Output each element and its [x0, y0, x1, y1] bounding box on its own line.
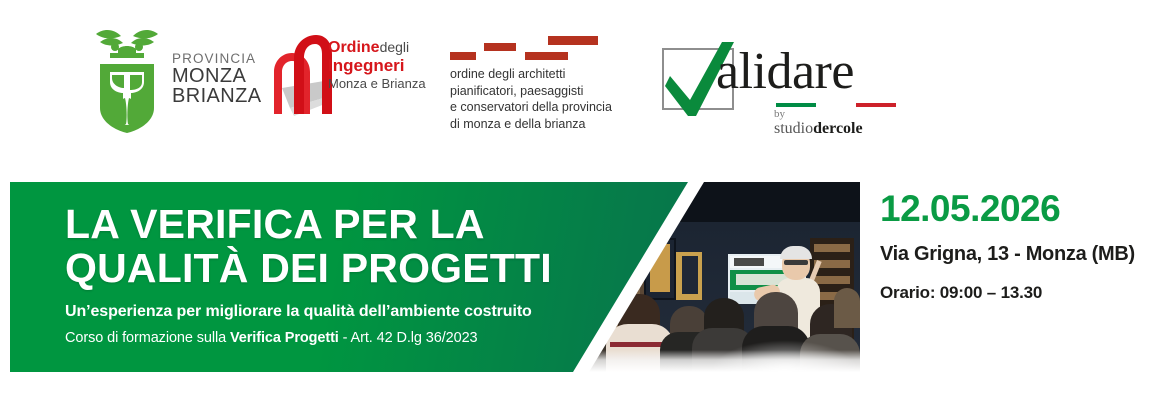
- provincia-monza-brianza-logo: PROVINCIA MONZA BRIANZA: [88, 20, 268, 135]
- architetti-line4: di monza e della brianza: [450, 116, 612, 133]
- architetti-wordmark: ordine degli architetti pianificatori, p…: [450, 66, 612, 132]
- ingegneri-line3: Monza e Brianza: [328, 77, 426, 90]
- banner-caption-bold: Verifica Progetti: [230, 330, 339, 346]
- provincia-wordmark: PROVINCIA MONZA BRIANZA: [172, 52, 261, 107]
- ingegneri-line2: Ingegneri: [328, 57, 426, 74]
- event-flyer: PROVINCIA MONZA BRIANZA Ordinedegli Inge…: [0, 0, 1150, 400]
- validare-by-dercole: dercole: [813, 120, 862, 137]
- event-address: Via Grigna, 13 - Monza (MB): [880, 243, 1145, 266]
- banner-text-block: LA VERIFICA PER LA QUALITÀ DEI PROGETTI …: [65, 202, 585, 346]
- validare-wordmark: alidare: [716, 42, 854, 101]
- architetti-dashes-icon: [450, 36, 600, 60]
- ingegneri-arch-icon: [268, 28, 334, 120]
- validare-tricolor-icon: [776, 103, 896, 107]
- banner-caption-post: - Art. 42 D.lg 36/2023: [339, 330, 478, 346]
- event-banner: LA VERIFICA PER LA QUALITÀ DEI PROGETTI …: [10, 182, 860, 372]
- validare-byline: by studiodercole: [774, 108, 863, 138]
- partner-logo-strip: PROVINCIA MONZA BRIANZA Ordinedegli Inge…: [0, 0, 1150, 150]
- event-date: 12.05.2026: [880, 190, 1145, 227]
- banner-title-line1: LA VERIFICA PER LA: [65, 202, 585, 246]
- validare-logo: alidare by studiodercole: [656, 46, 856, 134]
- validare-by-prefix: by: [774, 108, 785, 120]
- banner-title-line2: QUALITÀ DEI PROGETTI: [65, 246, 585, 290]
- provincia-line2: MONZA: [172, 66, 261, 86]
- event-time: Orario: 09:00 – 13.30: [880, 283, 1145, 303]
- provincia-line1: PROVINCIA: [172, 52, 261, 66]
- ordine-ingegneri-logo: Ordinedegli Ingegneri Monza e Brianza: [268, 28, 468, 133]
- ingegneri-wordmark: Ordinedegli Ingegneri Monza e Brianza: [328, 40, 426, 90]
- ingegneri-ordine: Ordine: [328, 39, 380, 56]
- banner-caption: Corso di formazione sulla Verifica Proge…: [65, 330, 585, 346]
- architetti-line1: ordine degli architetti: [450, 66, 612, 83]
- architetti-line3: e conservatori della provincia: [450, 99, 612, 116]
- banner-subtitle: Un’esperienza per migliorare la qualità …: [65, 303, 585, 321]
- ingegneri-degli: degli: [380, 39, 410, 55]
- validare-by-studio: studio: [774, 120, 813, 137]
- provincia-line3: BRIANZA: [172, 86, 261, 106]
- ingegneri-line1: Ordinedegli: [328, 40, 426, 56]
- ordine-architetti-logo: ordine degli architetti pianificatori, p…: [450, 36, 650, 134]
- banner-title: LA VERIFICA PER LA QUALITÀ DEI PROGETTI: [65, 202, 585, 291]
- event-details: 12.05.2026 Via Grigna, 13 - Monza (MB) O…: [880, 190, 1145, 303]
- banner-caption-pre: Corso di formazione sulla: [65, 330, 230, 346]
- provincia-crest-icon: [88, 20, 166, 135]
- architetti-line2: pianificatori, paesaggisti: [450, 83, 612, 100]
